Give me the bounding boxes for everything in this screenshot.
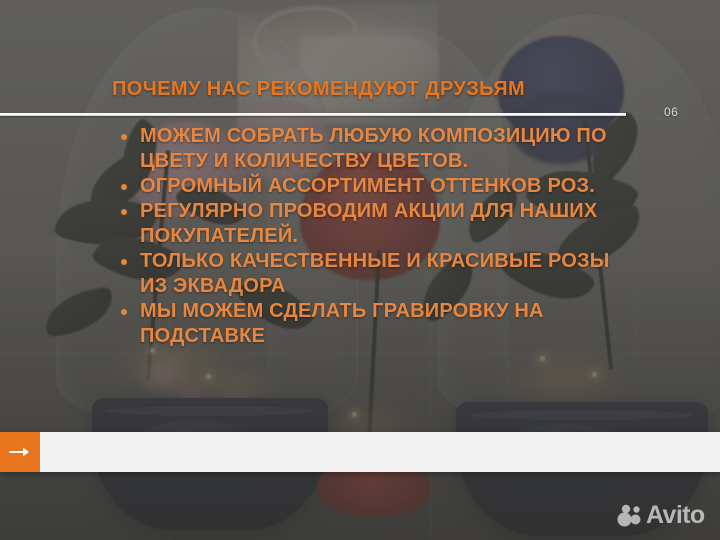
slide-title: ПОЧЕМУ НАС РЕКОМЕНДУЮТ ДРУЗЬЯМ [112, 78, 525, 101]
title-divider-rule [0, 113, 626, 116]
avito-watermark: Avito [617, 503, 705, 528]
avito-logo-icon [617, 504, 643, 528]
next-slide-button[interactable] [0, 432, 40, 472]
bullet-item: РЕГУЛЯРНО ПРОВОДИМ АКЦИИ ДЛЯ НАШИХ ПОКУП… [116, 199, 636, 249]
bullet-item: МЫ МОЖЕМ СДЕЛАТЬ ГРАВИРОВКУ НА ПОДСТАВКЕ [116, 299, 636, 349]
benefits-bullet-list: МОЖЕМ СОБРАТЬ ЛЮБУЮ КОМПОЗИЦИЮ ПО ЦВЕТУ … [116, 124, 636, 349]
presentation-slide: ПОЧЕМУ НАС РЕКОМЕНДУЮТ ДРУЗЬЯМ 06 МОЖЕМ … [0, 0, 720, 540]
arrow-right-icon [9, 446, 31, 458]
bullet-item: МОЖЕМ СОБРАТЬ ЛЮБУЮ КОМПОЗИЦИЮ ПО ЦВЕТУ … [116, 124, 636, 174]
bullet-item: ТОЛЬКО КАЧЕСТВЕННЫЕ И КРАСИВЫЕ РОЗЫ ИЗ Э… [116, 249, 636, 299]
bottom-white-band [0, 432, 720, 472]
page-number: 06 [664, 105, 678, 119]
bullet-item: ОГРОМНЫЙ АССОРТИМЕНТ ОТТЕНКОВ РОЗ. [116, 174, 636, 199]
avito-wordmark: Avito [646, 503, 705, 528]
